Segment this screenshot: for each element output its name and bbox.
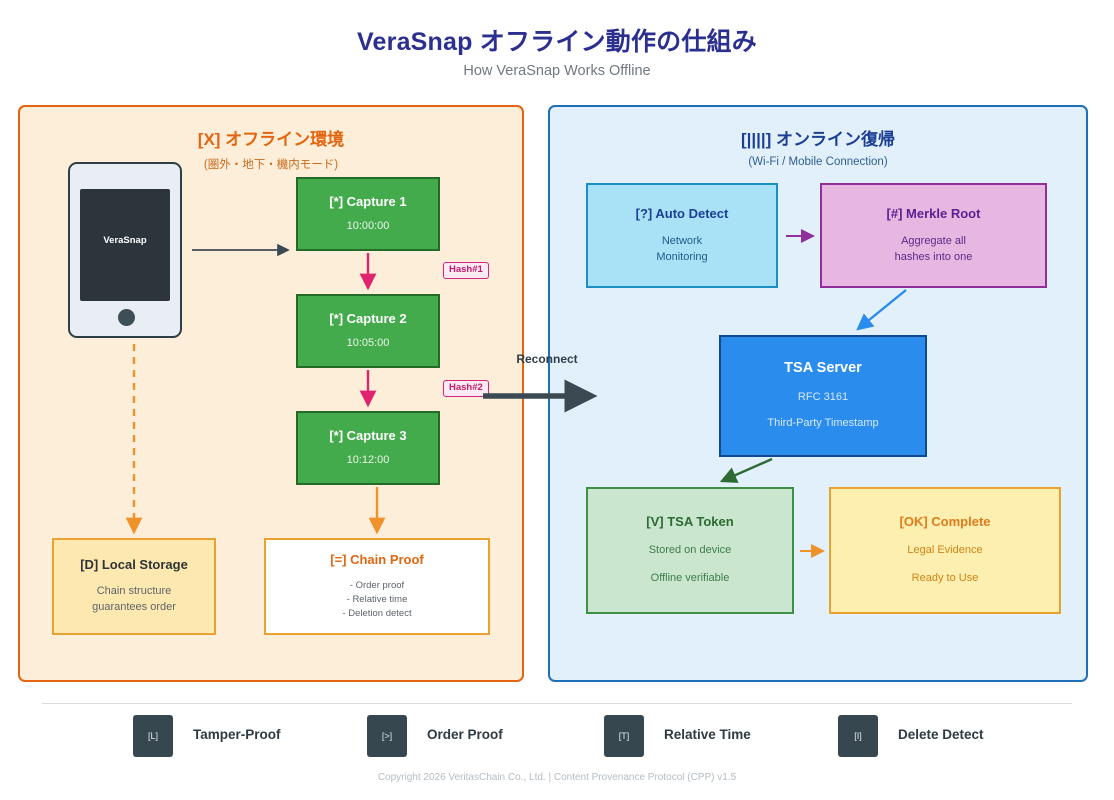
- copyright-text: Copyright 2026 VeritasChain Co., Ltd. | …: [0, 772, 1114, 783]
- capture-2-title: [*] Capture 2: [329, 311, 406, 326]
- footer-divider: [42, 703, 1072, 704]
- page-title: VeraSnap オフライン動作の仕組み: [0, 22, 1114, 58]
- tamper-proof-icon: [L]: [133, 715, 173, 757]
- auto-detect-title: [?] Auto Detect: [636, 206, 729, 221]
- phone-device: VeraSnap: [68, 162, 182, 338]
- local-storage-title: [D] Local Storage: [80, 557, 188, 572]
- local-storage-line-2: guarantees order: [92, 600, 176, 616]
- delete-detect-icon: [I]: [838, 715, 878, 757]
- legend-label-relative-time: Relative Time: [664, 727, 751, 742]
- tsa-token-title: [V] TSA Token: [646, 514, 733, 529]
- hash-tag-1: Hash#1: [443, 262, 489, 279]
- tsa-server-title: TSA Server: [784, 360, 862, 376]
- legend-item-order-proof: [>] Order Proof: [367, 715, 407, 757]
- capture-2-time: 10:05:00: [347, 336, 390, 352]
- phone-screen: VeraSnap: [80, 189, 170, 301]
- auto-detect-line-2: Monitoring: [656, 250, 707, 266]
- capture-3-node[interactable]: [*] Capture 3 10:12:00: [296, 411, 440, 485]
- relative-time-icon: [T]: [604, 715, 644, 757]
- capture-3-time: 10:12:00: [347, 453, 390, 469]
- diagram-canvas: VeraSnap オフライン動作の仕組み How VeraSnap Works …: [0, 0, 1114, 800]
- local-storage-line-1: Chain structure: [97, 584, 172, 600]
- complete-line-2: Ready to Use: [912, 571, 979, 587]
- merkle-root-line-1: Aggregate all: [901, 234, 966, 250]
- legend-label-tamper-proof: Tamper-Proof: [193, 727, 281, 742]
- tsa-server-line-1: RFC 3161: [798, 390, 848, 406]
- capture-2-node[interactable]: [*] Capture 2 10:05:00: [296, 294, 440, 368]
- merkle-root-line-2: hashes into one: [895, 250, 973, 266]
- legend-label-delete-detect: Delete Detect: [898, 727, 984, 742]
- chain-proof-line-2: - Relative time: [347, 593, 408, 607]
- chain-proof-node[interactable]: [=] Chain Proof - Order proof - Relative…: [264, 538, 490, 635]
- reconnect-label: Reconnect: [487, 352, 607, 366]
- auto-detect-node[interactable]: [?] Auto Detect Network Monitoring: [586, 183, 778, 288]
- legend-item-relative-time: [T] Relative Time: [604, 715, 644, 757]
- capture-1-title: [*] Capture 1: [329, 194, 406, 209]
- online-panel-title: [||||] オンライン復帰: [550, 125, 1086, 150]
- merkle-root-node[interactable]: [#] Merkle Root Aggregate all hashes int…: [820, 183, 1047, 288]
- page-subtitle: How VeraSnap Works Offline: [0, 63, 1114, 79]
- order-proof-icon: [>]: [367, 715, 407, 757]
- complete-title: [OK] Complete: [900, 514, 991, 529]
- auto-detect-line-1: Network: [662, 234, 702, 250]
- online-panel-subtitle: (Wi-Fi / Mobile Connection): [550, 156, 1086, 168]
- capture-3-title: [*] Capture 3: [329, 428, 406, 443]
- hash-tag-2: Hash#2: [443, 380, 489, 397]
- tsa-token-node[interactable]: [V] TSA Token Stored on device Offline v…: [586, 487, 794, 614]
- chain-proof-line-1: - Order proof: [350, 579, 404, 593]
- tsa-token-line-2: Offline verifiable: [651, 571, 730, 587]
- merkle-root-title: [#] Merkle Root: [887, 206, 981, 221]
- tsa-server-node[interactable]: TSA Server RFC 3161 Third-Party Timestam…: [719, 335, 927, 457]
- capture-1-node[interactable]: [*] Capture 1 10:00:00: [296, 177, 440, 251]
- tsa-server-line-2: Third-Party Timestamp: [767, 416, 878, 432]
- legend-item-tamper-proof: [L] Tamper-Proof: [133, 715, 173, 757]
- local-storage-node[interactable]: [D] Local Storage Chain structure guaran…: [52, 538, 216, 635]
- offline-panel-title: [X] オフライン環境: [20, 125, 522, 150]
- chain-proof-title: [=] Chain Proof: [330, 552, 424, 567]
- complete-line-1: Legal Evidence: [907, 543, 982, 559]
- phone-home-button-icon: [118, 309, 135, 326]
- chain-proof-line-3: - Deletion detect: [342, 607, 411, 621]
- capture-1-time: 10:00:00: [347, 219, 390, 235]
- phone-brand-label: VeraSnap: [80, 235, 170, 246]
- tsa-token-line-1: Stored on device: [649, 543, 732, 559]
- legend-label-order-proof: Order Proof: [427, 727, 503, 742]
- legend-item-delete-detect: [I] Delete Detect: [838, 715, 878, 757]
- complete-node[interactable]: [OK] Complete Legal Evidence Ready to Us…: [829, 487, 1061, 614]
